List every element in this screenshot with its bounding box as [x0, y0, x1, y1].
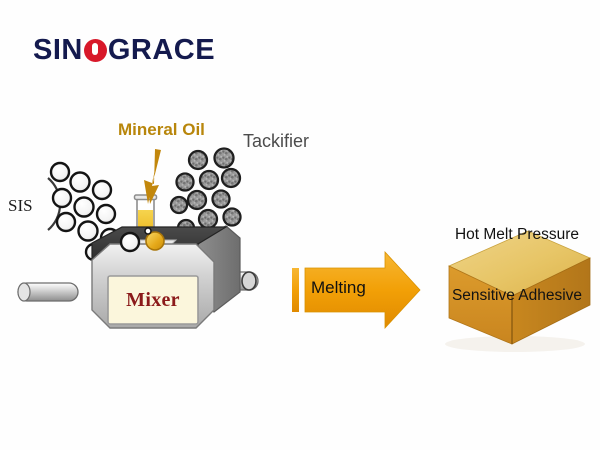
label-product: Hot Melt Pressure Sensitive Adhesive: [437, 185, 597, 346]
label-tackifier: Tackifier: [243, 131, 309, 152]
label-mineral-oil: Mineral Oil: [118, 120, 205, 140]
label-product-line2: Sensitive Adhesive: [437, 286, 597, 306]
label-sis: SIS: [8, 196, 33, 216]
melting-tick-mark: [292, 268, 299, 312]
mixer-shaft-left: [18, 283, 78, 301]
label-product-line1: Hot Melt Pressure: [437, 225, 597, 245]
mixer-label-text: Mixer: [108, 276, 198, 324]
diagram-canvas: SIN GRACE: [0, 0, 600, 450]
label-melting: Melting: [311, 278, 366, 298]
